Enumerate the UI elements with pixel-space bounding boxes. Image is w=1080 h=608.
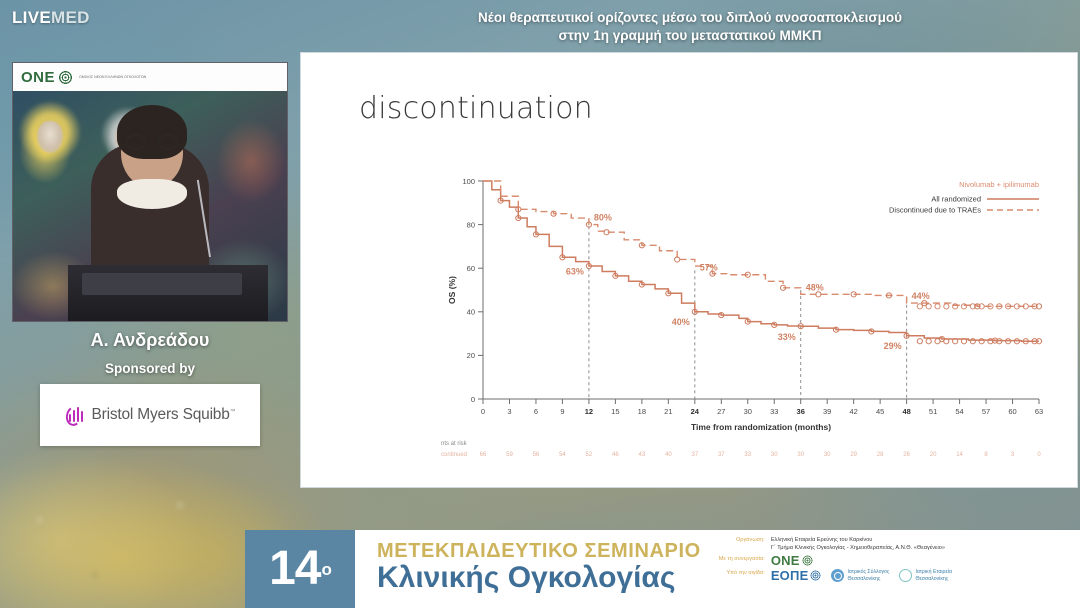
svg-text:9: 9 — [560, 407, 564, 416]
svg-text:40: 40 — [665, 452, 672, 458]
svg-text:46: 46 — [612, 452, 619, 458]
svg-text:20: 20 — [467, 351, 475, 360]
svg-text:54: 54 — [559, 452, 566, 458]
session-title-line2: στην 1η γραμμή του μεταστατικού ΜΜΚΠ — [300, 27, 1080, 45]
aegis-label: Υπό την αιγίδα: — [711, 569, 765, 577]
kaplan-meier-chart: 0204060801000369121518212427303336394245… — [441, 171, 1061, 471]
logo-strong: LIVE — [12, 8, 51, 27]
sponsor-name: Bristol Myers Squibb™ — [92, 406, 236, 424]
aegis-logos: ΕΟΠΕ Ιατρικός Σύλλογος Θεσσαλονίκης — [771, 569, 952, 582]
svg-text:59: 59 — [506, 452, 513, 458]
seminar-number: 14ο — [245, 530, 355, 608]
podium — [68, 265, 268, 322]
banner-titles: ΜΕΤΕΚΠΑΙΔΕΥΤΙΚΟ ΣΕΜΙΝΑΡΙΟ Κλινικής Ογκολ… — [355, 530, 701, 608]
svg-text:21: 21 — [664, 407, 672, 416]
one-logo-subtitle: ΟΜΙΛΟΣ ΝΕΩΝ ΕΛΛΗΝΩΝ ΟΓΚΟΛΟΓΩΝ — [79, 75, 146, 80]
svg-text:8: 8 — [984, 452, 988, 458]
svg-text:48: 48 — [902, 407, 910, 416]
svg-text:33: 33 — [770, 407, 778, 416]
svg-text:continued: continued — [441, 452, 467, 458]
svg-text:26: 26 — [903, 452, 910, 458]
association-name: Ιατρικός Σύλλογος Θεσσαλονίκης — [847, 569, 889, 582]
trademark-mark: ™ — [230, 409, 236, 415]
organizer-value-2: Γ΄ Τμήμα Κλινικής Ογκολογίας - Χημειοθερ… — [771, 544, 945, 552]
svg-text:All randomized: All randomized — [931, 195, 981, 204]
svg-text:nts at risk: nts at risk — [441, 441, 468, 447]
svg-text:29%: 29% — [884, 341, 902, 351]
svg-text:57: 57 — [982, 407, 990, 416]
svg-text:40: 40 — [467, 308, 475, 317]
svg-text:12: 12 — [585, 407, 593, 416]
organizer-values: Ελληνική Εταιρεία Ερεύνης του Καρκίνου Γ… — [771, 536, 945, 552]
seminar-number-ordinal: ο — [322, 561, 331, 578]
svg-text:54: 54 — [955, 407, 963, 416]
svg-text:Discontinued due to TRAEs: Discontinued due to TRAEs — [889, 206, 981, 215]
painting-face — [37, 121, 63, 153]
svg-text:56: 56 — [533, 452, 540, 458]
speaker-hair — [117, 105, 187, 159]
speaker-name: Α. Ανδρεάδου — [12, 330, 288, 351]
svg-text:37: 37 — [718, 452, 725, 458]
svg-text:30: 30 — [744, 407, 752, 416]
chart-vertical-markers — [589, 220, 907, 399]
banner-organizers: Οργάνωση: Ελληνική Εταιρεία Ερεύνης του … — [701, 530, 1080, 608]
slide-title: discontinuation — [359, 91, 593, 126]
svg-text:Nivolumab + ipilimumab: Nivolumab + ipilimumab — [959, 180, 1039, 189]
svg-text:48%: 48% — [806, 282, 824, 292]
svg-text:24: 24 — [691, 407, 700, 416]
svg-text:57%: 57% — [700, 263, 718, 273]
one-swirl-icon — [58, 70, 73, 85]
svg-text:28: 28 — [877, 452, 884, 458]
society-seal-icon — [899, 569, 912, 582]
svg-text:33: 33 — [744, 452, 751, 458]
svg-text:36: 36 — [797, 407, 805, 416]
livemed-logo: LIVEMED — [12, 8, 90, 28]
svg-text:43: 43 — [639, 452, 646, 458]
speaker-panel: ONE ΟΜΙΛΟΣ ΝΕΩΝ ΕΛΛΗΝΩΝ ΟΓΚΟΛΟΓΩΝ Α. Ανδ… — [12, 62, 288, 446]
svg-text:20: 20 — [930, 452, 937, 458]
session-title: Νέοι θεραπευτικοί ορίζοντες μέσω του διπ… — [300, 9, 1080, 45]
top-bar: LIVEMED Νέοι θεραπευτικοί ορίζοντες μέσω… — [0, 0, 1080, 52]
one-logo-text: ONE — [21, 69, 55, 86]
video-scene — [13, 91, 287, 322]
svg-text:29: 29 — [850, 452, 857, 458]
svg-text:52: 52 — [586, 452, 593, 458]
svg-text:30: 30 — [797, 452, 804, 458]
svg-text:66: 66 — [480, 452, 487, 458]
eope-swirl-icon — [810, 570, 821, 581]
svg-text:37: 37 — [691, 452, 698, 458]
organizer-label: Οργάνωση: — [711, 536, 765, 544]
svg-text:42: 42 — [849, 407, 857, 416]
bristol-myers-squibb-icon — [65, 404, 85, 426]
presentation-slide[interactable]: discontinuation 020406080100036912151821… — [300, 52, 1078, 488]
cooperation-row: Με τη συνεργασία: ONE — [711, 555, 1074, 566]
svg-text:3: 3 — [507, 407, 511, 416]
chart-annotations: 80%63%57%40%48%33%44%29% — [566, 213, 930, 351]
medical-association-logo: Ιατρικός Σύλλογος Θεσσαλονίκης — [831, 569, 889, 582]
organizer-row: Οργάνωση: Ελληνική Εταιρεία Ερεύνης του … — [711, 536, 1074, 552]
svg-text:40%: 40% — [672, 317, 690, 327]
svg-text:60: 60 — [467, 264, 475, 273]
glasses-icon — [126, 135, 178, 149]
chart-legend: Nivolumab + ipilimumabAll randomizedDisc… — [889, 180, 1039, 215]
svg-text:OS (%): OS (%) — [447, 276, 457, 304]
svg-text:51: 51 — [929, 407, 937, 416]
cooperation-label: Με τη συνεργασία: — [711, 555, 765, 563]
svg-text:30: 30 — [824, 452, 831, 458]
svg-text:27: 27 — [717, 407, 725, 416]
sponsor-logo-card: Bristol Myers Squibb™ — [40, 384, 260, 446]
svg-text:33%: 33% — [778, 332, 796, 342]
svg-text:0: 0 — [1037, 452, 1041, 458]
eope-logo-text: ΕΟΠΕ — [771, 572, 809, 580]
svg-text:0: 0 — [481, 407, 485, 416]
banner-title: Κλινικής Ογκολογίας — [377, 561, 701, 595]
svg-text:80: 80 — [467, 220, 475, 229]
banner-strip: 14ο ΜΕΤΕΚΠΑΙΔΕΥΤΙΚΟ ΣΕΜΙΝΑΡΙΟ Κλινικής Ο… — [245, 530, 1080, 608]
svg-text:14: 14 — [956, 452, 963, 458]
society-name: Ιατρική Εταιρεία Θεσσαλονίκης — [915, 569, 952, 582]
sponsored-by-label: Sponsored by — [12, 361, 288, 376]
medical-society-logo: Ιατρική Εταιρεία Θεσσαλονίκης — [899, 569, 952, 582]
one-logo-small: ONE — [771, 555, 813, 566]
bottom-banner: 14ο ΜΕΤΕΚΠΑΙΔΕΥΤΙΚΟ ΣΕΜΙΝΑΡΙΟ Κλινικής Ο… — [0, 526, 1080, 608]
svg-text:3: 3 — [1011, 452, 1015, 458]
one-logo-small-text: ONE — [771, 557, 800, 565]
aegis-row: Υπό την αιγίδα: ΕΟΠΕ Ιατρικός Σύλλογος Θ… — [711, 569, 1074, 582]
organizer-value-1: Ελληνική Εταιρεία Ερεύνης του Καρκίνου — [771, 536, 945, 544]
speaker-video[interactable]: ONE ΟΜΙΛΟΣ ΝΕΩΝ ΕΛΛΗΝΩΝ ΟΓΚΟΛΟΓΩΝ — [12, 62, 288, 322]
one-swirl-icon — [802, 555, 813, 566]
svg-text:60: 60 — [1008, 407, 1016, 416]
svg-text:63: 63 — [1035, 407, 1043, 416]
svg-text:80%: 80% — [594, 213, 612, 223]
svg-text:100: 100 — [462, 177, 475, 186]
logo-light: MED — [51, 8, 90, 27]
eope-logo: ΕΟΠΕ — [771, 570, 822, 581]
association-seal-icon — [831, 569, 844, 582]
svg-text:0: 0 — [471, 395, 475, 404]
svg-text:18: 18 — [638, 407, 646, 416]
svg-text:39: 39 — [823, 407, 831, 416]
chart-risk-table: nts at riskcontinued66595654524643403737… — [441, 441, 1041, 458]
svg-text:Time from randomization (month: Time from randomization (months) — [691, 422, 831, 432]
chart-svg: 0204060801000369121518212427303336394245… — [441, 171, 1061, 471]
banner-subtitle: ΜΕΤΕΚΠΑΙΔΕΥΤΙΚΟ ΣΕΜΙΝΑΡΙΟ — [377, 540, 701, 563]
svg-text:44%: 44% — [912, 291, 930, 301]
svg-text:30: 30 — [771, 452, 778, 458]
svg-text:6: 6 — [534, 407, 538, 416]
svg-text:63%: 63% — [566, 267, 584, 277]
one-logo-overlay: ONE ΟΜΙΛΟΣ ΝΕΩΝ ΕΛΛΗΝΩΝ ΟΓΚΟΛΟΓΩΝ — [13, 63, 287, 91]
svg-text:15: 15 — [611, 407, 619, 416]
svg-text:45: 45 — [876, 407, 884, 416]
session-title-line1: Νέοι θεραπευτικοί ορίζοντες μέσω του διπ… — [300, 9, 1080, 27]
speaker-collar — [117, 179, 187, 209]
